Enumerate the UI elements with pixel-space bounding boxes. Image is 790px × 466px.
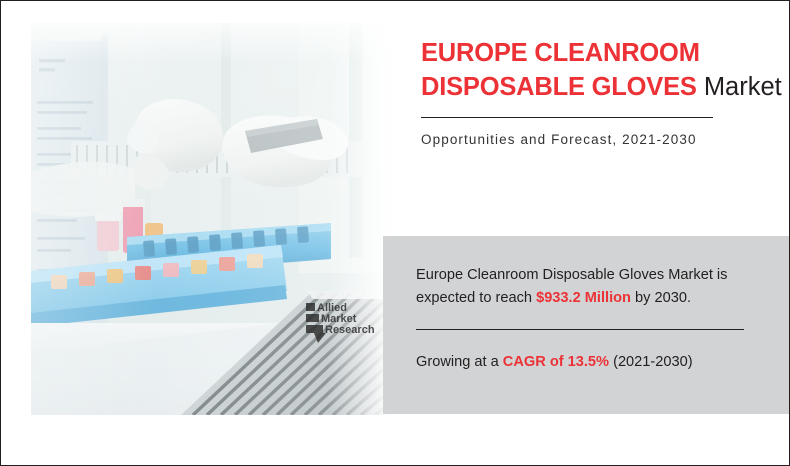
market-size-text-c: by 2030.: [631, 290, 691, 306]
stats-inner: Europe Cleanroom Disposable Gloves Marke…: [416, 264, 756, 374]
title-divider: [421, 117, 713, 118]
report-title-part-1: EUROPE CLEANROOM: [421, 39, 700, 67]
cagr-statement: Growing at a CAGR of 13.5% (2021-2030): [416, 352, 756, 374]
title-block: EUROPE CLEANROOM DISPOSABLE GLOVES Marke…: [421, 37, 761, 147]
cagr-text-a: Growing at a: [416, 354, 503, 370]
market-size-text-a: Europe Cleanroom Disposable Gloves Marke…: [416, 267, 727, 283]
stats-divider: [416, 329, 744, 330]
report-title-part-2: DISPOSABLE GLOVES: [421, 73, 697, 101]
report-subtitle: Opportunities and Forecast, 2021-2030: [421, 132, 761, 147]
market-size-value: $933.2 Million: [536, 290, 631, 306]
market-report-infographic: Allied Market Research EUROPE CLEANROOM …: [0, 0, 790, 466]
cagr-text-b: (2021-2030): [609, 354, 693, 370]
market-size-text-b: expected to reach: [416, 290, 536, 306]
report-title-line-1: EUROPE CLEANROOM: [421, 37, 761, 71]
report-title-suffix: Market: [697, 73, 782, 101]
report-title-line-2: DISPOSABLE GLOVES Market: [421, 71, 761, 105]
laboratory-scene-illustration: [31, 23, 397, 415]
market-size-statement: Europe Cleanroom Disposable Gloves Marke…: [416, 264, 756, 310]
stats-panel: Europe Cleanroom Disposable Gloves Marke…: [383, 236, 789, 414]
cagr-value: CAGR of 13.5%: [503, 354, 609, 370]
hero-photo: [31, 23, 397, 415]
